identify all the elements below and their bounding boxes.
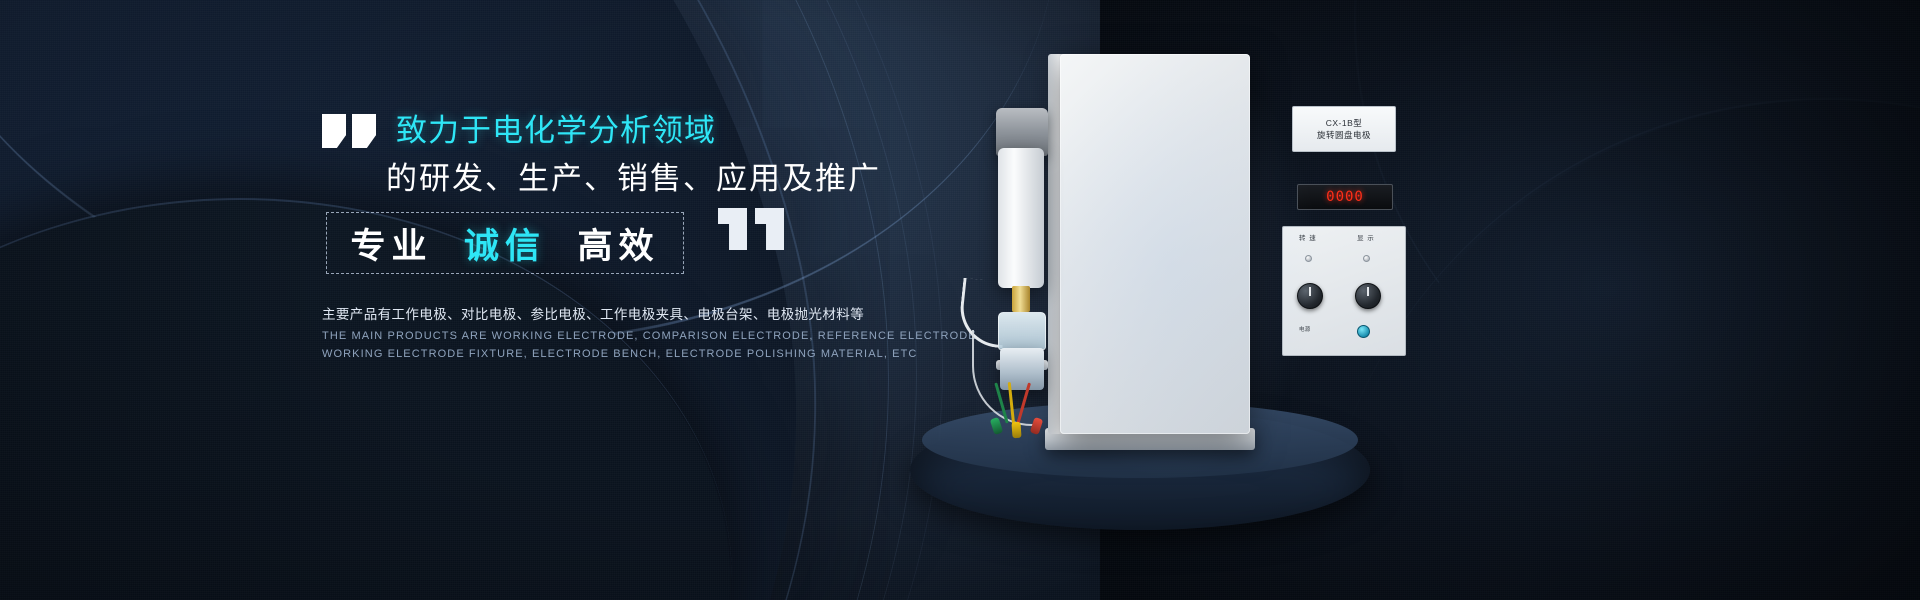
nameplate-name: 旋转圆盘电极	[1317, 129, 1371, 141]
quote-open-glyph-1	[322, 114, 346, 148]
rotor-shaft-housing	[998, 148, 1044, 288]
description-english-line-1: THE MAIN PRODUCTS ARE WORKING ELECTRODE,…	[322, 327, 882, 345]
slogan-part-1: 专业	[351, 227, 433, 266]
slogan: 专业 诚信 高效	[351, 218, 660, 269]
clip-yellow	[1011, 422, 1021, 439]
quote-open-icon	[322, 114, 378, 148]
quote-open-glyph-2	[352, 114, 376, 148]
headline-line-2: 的研发、生产、销售、应用及推广	[386, 160, 881, 198]
control-label-speed: 转 速	[1299, 232, 1317, 242]
control-label-display: 显 示	[1357, 232, 1375, 242]
description-english: THE MAIN PRODUCTS ARE WORKING ELECTRODE,…	[322, 327, 882, 363]
control-box: 转 速 显 示 电源	[1282, 226, 1406, 356]
nameplate-model: CX-1B型	[1326, 117, 1363, 129]
product-front-panel: CX-1B型 旋转圆盘电极 0000 转 速 显 示 电源	[1060, 54, 1250, 434]
screw-left	[1305, 255, 1312, 262]
led-display: 0000	[1297, 184, 1393, 210]
quote-close-glyph-2	[755, 208, 784, 250]
knob-speed[interactable]	[1297, 283, 1323, 309]
slogan-part-2: 诚信	[464, 227, 546, 266]
quote-close-glyph-1	[718, 208, 747, 250]
banner-stage: 致力于电化学分析领域 的研发、生产、销售、应用及推广 专业 诚信 高效 主要产品…	[0, 0, 1920, 600]
knob-display[interactable]	[1355, 283, 1381, 309]
power-label: 电源	[1299, 325, 1311, 333]
electrochemical-cell-glass	[998, 312, 1046, 350]
electrochemical-cell-body	[1000, 348, 1044, 390]
led-digits: 0000	[1326, 189, 1364, 205]
screw-right	[1363, 255, 1370, 262]
slogan-part-3: 高效	[577, 227, 659, 266]
indicator-lamp[interactable]	[1357, 325, 1370, 338]
product-nameplate: CX-1B型 旋转圆盘电极	[1292, 106, 1396, 152]
headline-line-1: 致力于电化学分析领域	[396, 112, 716, 150]
slogan-box: 专业 诚信 高效	[326, 212, 684, 274]
rotor-electrode-neck	[1012, 286, 1030, 312]
description-chinese: 主要产品有工作电极、对比电极、参比电极、工作电极夹具、电极台架、电极抛光材料等	[322, 303, 864, 323]
product-image: CX-1B型 旋转圆盘电极 0000 转 速 显 示 电源	[900, 30, 1440, 500]
quote-close-icon	[718, 208, 786, 250]
description-english-line-2: WORKING ELECTRODE FIXTURE, ELECTRODE BEN…	[322, 345, 882, 363]
